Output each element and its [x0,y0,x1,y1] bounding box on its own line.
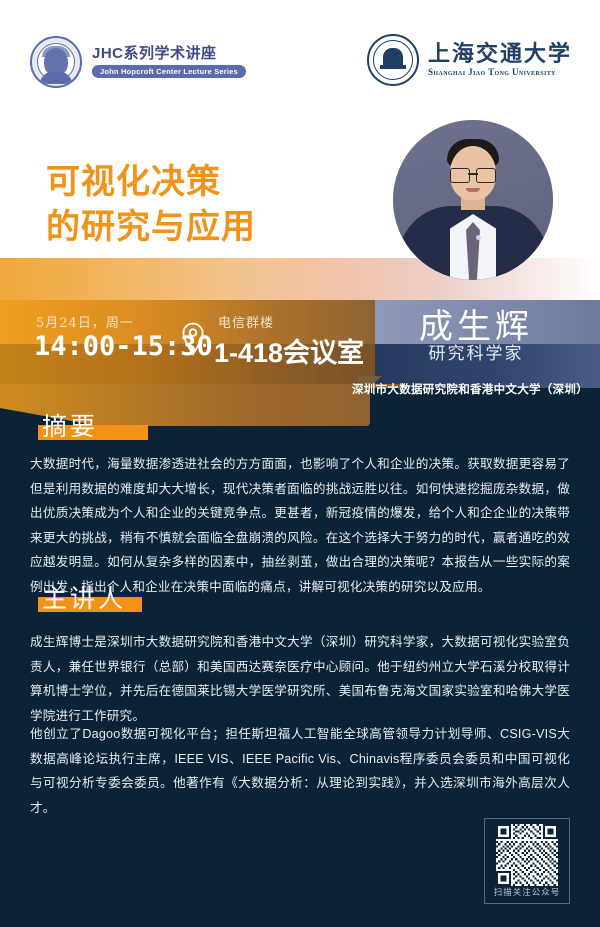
jhc-logo: JHC系列学术讲座 John Hopcroft Center Lecture S… [30,36,246,88]
jhc-title-en: John Hopcroft Center Lecture Series [92,65,246,79]
abstract-heading: 摘要 [36,412,104,444]
speaker-portrait [393,120,553,280]
bio-paragraph-2: 他创立了Dagoo数据可视化平台；担任斯坦福人工智能全球高管领导力计划导师、CS… [30,722,570,820]
lecture-poster: JHC系列学术讲座 John Hopcroft Center Lecture S… [0,0,600,927]
sjtu-seal-icon [367,34,419,86]
sjtu-title-cn: 上海交通大学 [428,43,572,65]
qr-caption: 扫描关注公众号 [484,886,570,898]
abstract-body: 大数据时代，海量数据渗透进社会的方方面面，也影响了个人和企业的决策。获取数据更容… [30,452,570,599]
bio-heading-label: 主讲人 [36,584,132,614]
jhc-title-cn: JHC系列学术讲座 [92,46,246,61]
sjtu-title-en: Shanghai Jiao Tong University [428,67,556,77]
speaker-affiliation: 深圳市大数据研究院和香港中文大学（深圳） [0,381,600,397]
qr-code-icon [490,824,564,886]
speaker-role: 研究科学家 [0,339,600,364]
bio-paragraph-1: 成生辉博士是深圳市大数据研究院和香港中文大学（深圳）研究科学家，大数据可视化实验… [30,630,570,728]
bio-heading: 主讲人 [36,584,132,616]
poster-header: JHC系列学术讲座 John Hopcroft Center Lecture S… [0,0,600,110]
page-title: 可视化决策 的研究与应用 [46,160,256,250]
abstract-heading-label: 摘要 [36,412,104,442]
jhc-seal-icon [30,36,82,88]
sjtu-logo: 上海交通大学 Shanghai Jiao Tong University [367,34,572,86]
